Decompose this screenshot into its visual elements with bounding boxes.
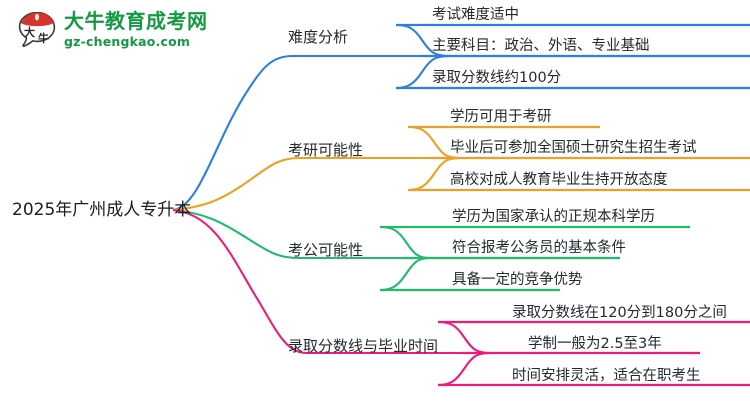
leaf-node-nandufenxi-3[interactable]: 录取分数线约100分 bbox=[432, 71, 561, 86]
leaf-node-kaogongkenengxing-1[interactable]: 学历为国家承认的正规本科学历 bbox=[452, 210, 655, 225]
leaf-node-luqufenshuxian-3[interactable]: 时间安排灵活，适合在职考生 bbox=[512, 369, 701, 384]
leaf-node-kaogongkenengxing-3[interactable]: 具备一定的竞争优势 bbox=[452, 273, 583, 288]
branch-edge-luqufenshuxian bbox=[173, 210, 750, 385]
mindmap-canvas: 大 牛 大牛教育成考网 gz-chengkao.com bbox=[0, 0, 750, 410]
branch-node-kaoyankenengxing[interactable]: 考研可能性 bbox=[288, 143, 363, 158]
branch-node-luqufenshuxian[interactable]: 录取分数线与毕业时间 bbox=[288, 339, 438, 354]
leaf-node-kaoyankenengxing-3[interactable]: 高校对成人教育毕业生持开放态度 bbox=[450, 173, 668, 188]
leaf-node-kaoyankenengxing-2[interactable]: 毕业后可参加全国硕士研究生招生考试 bbox=[450, 141, 697, 156]
leaf-node-kaogongkenengxing-2[interactable]: 符合报考公务员的基本条件 bbox=[452, 241, 626, 256]
leaf-node-nandufenxi-2[interactable]: 主要科目：政治、外语、专业基础 bbox=[432, 39, 650, 54]
leaf-node-kaoyankenengxing-1[interactable]: 学历可用于考研 bbox=[450, 110, 552, 125]
leaf-node-nandufenxi-1[interactable]: 考试难度适中 bbox=[432, 8, 519, 23]
branch-node-kaogongkenengxing[interactable]: 考公可能性 bbox=[288, 243, 363, 258]
leaf-node-luqufenshuxian-1[interactable]: 录取分数线在120分到180分之间 bbox=[512, 306, 727, 321]
branch-node-nandufenxi[interactable]: 难度分析 bbox=[288, 30, 348, 45]
leaf-node-luqufenshuxian-2[interactable]: 学制一般为2.5至3年 bbox=[528, 337, 662, 352]
mindmap-root-node[interactable]: 2025年广州成人专升本 bbox=[12, 202, 191, 219]
